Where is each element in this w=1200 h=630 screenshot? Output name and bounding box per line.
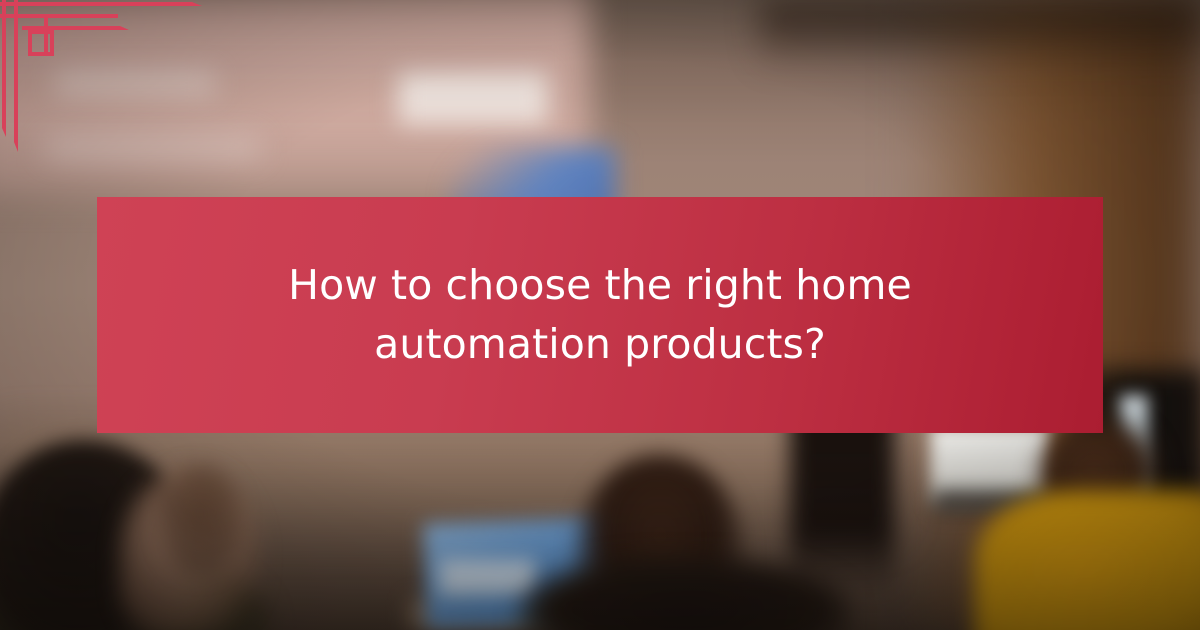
frame-line-left-outer xyxy=(2,0,6,128)
page-title: How to choose the right home automation … xyxy=(220,256,980,373)
title-banner: How to choose the right home automation … xyxy=(97,197,1103,433)
frame-square-outline xyxy=(28,30,54,56)
frame-line-left-inner xyxy=(14,0,18,142)
cover-canvas: How to choose the right home automation … xyxy=(0,0,1200,630)
frame-line-top-outer xyxy=(0,2,192,6)
